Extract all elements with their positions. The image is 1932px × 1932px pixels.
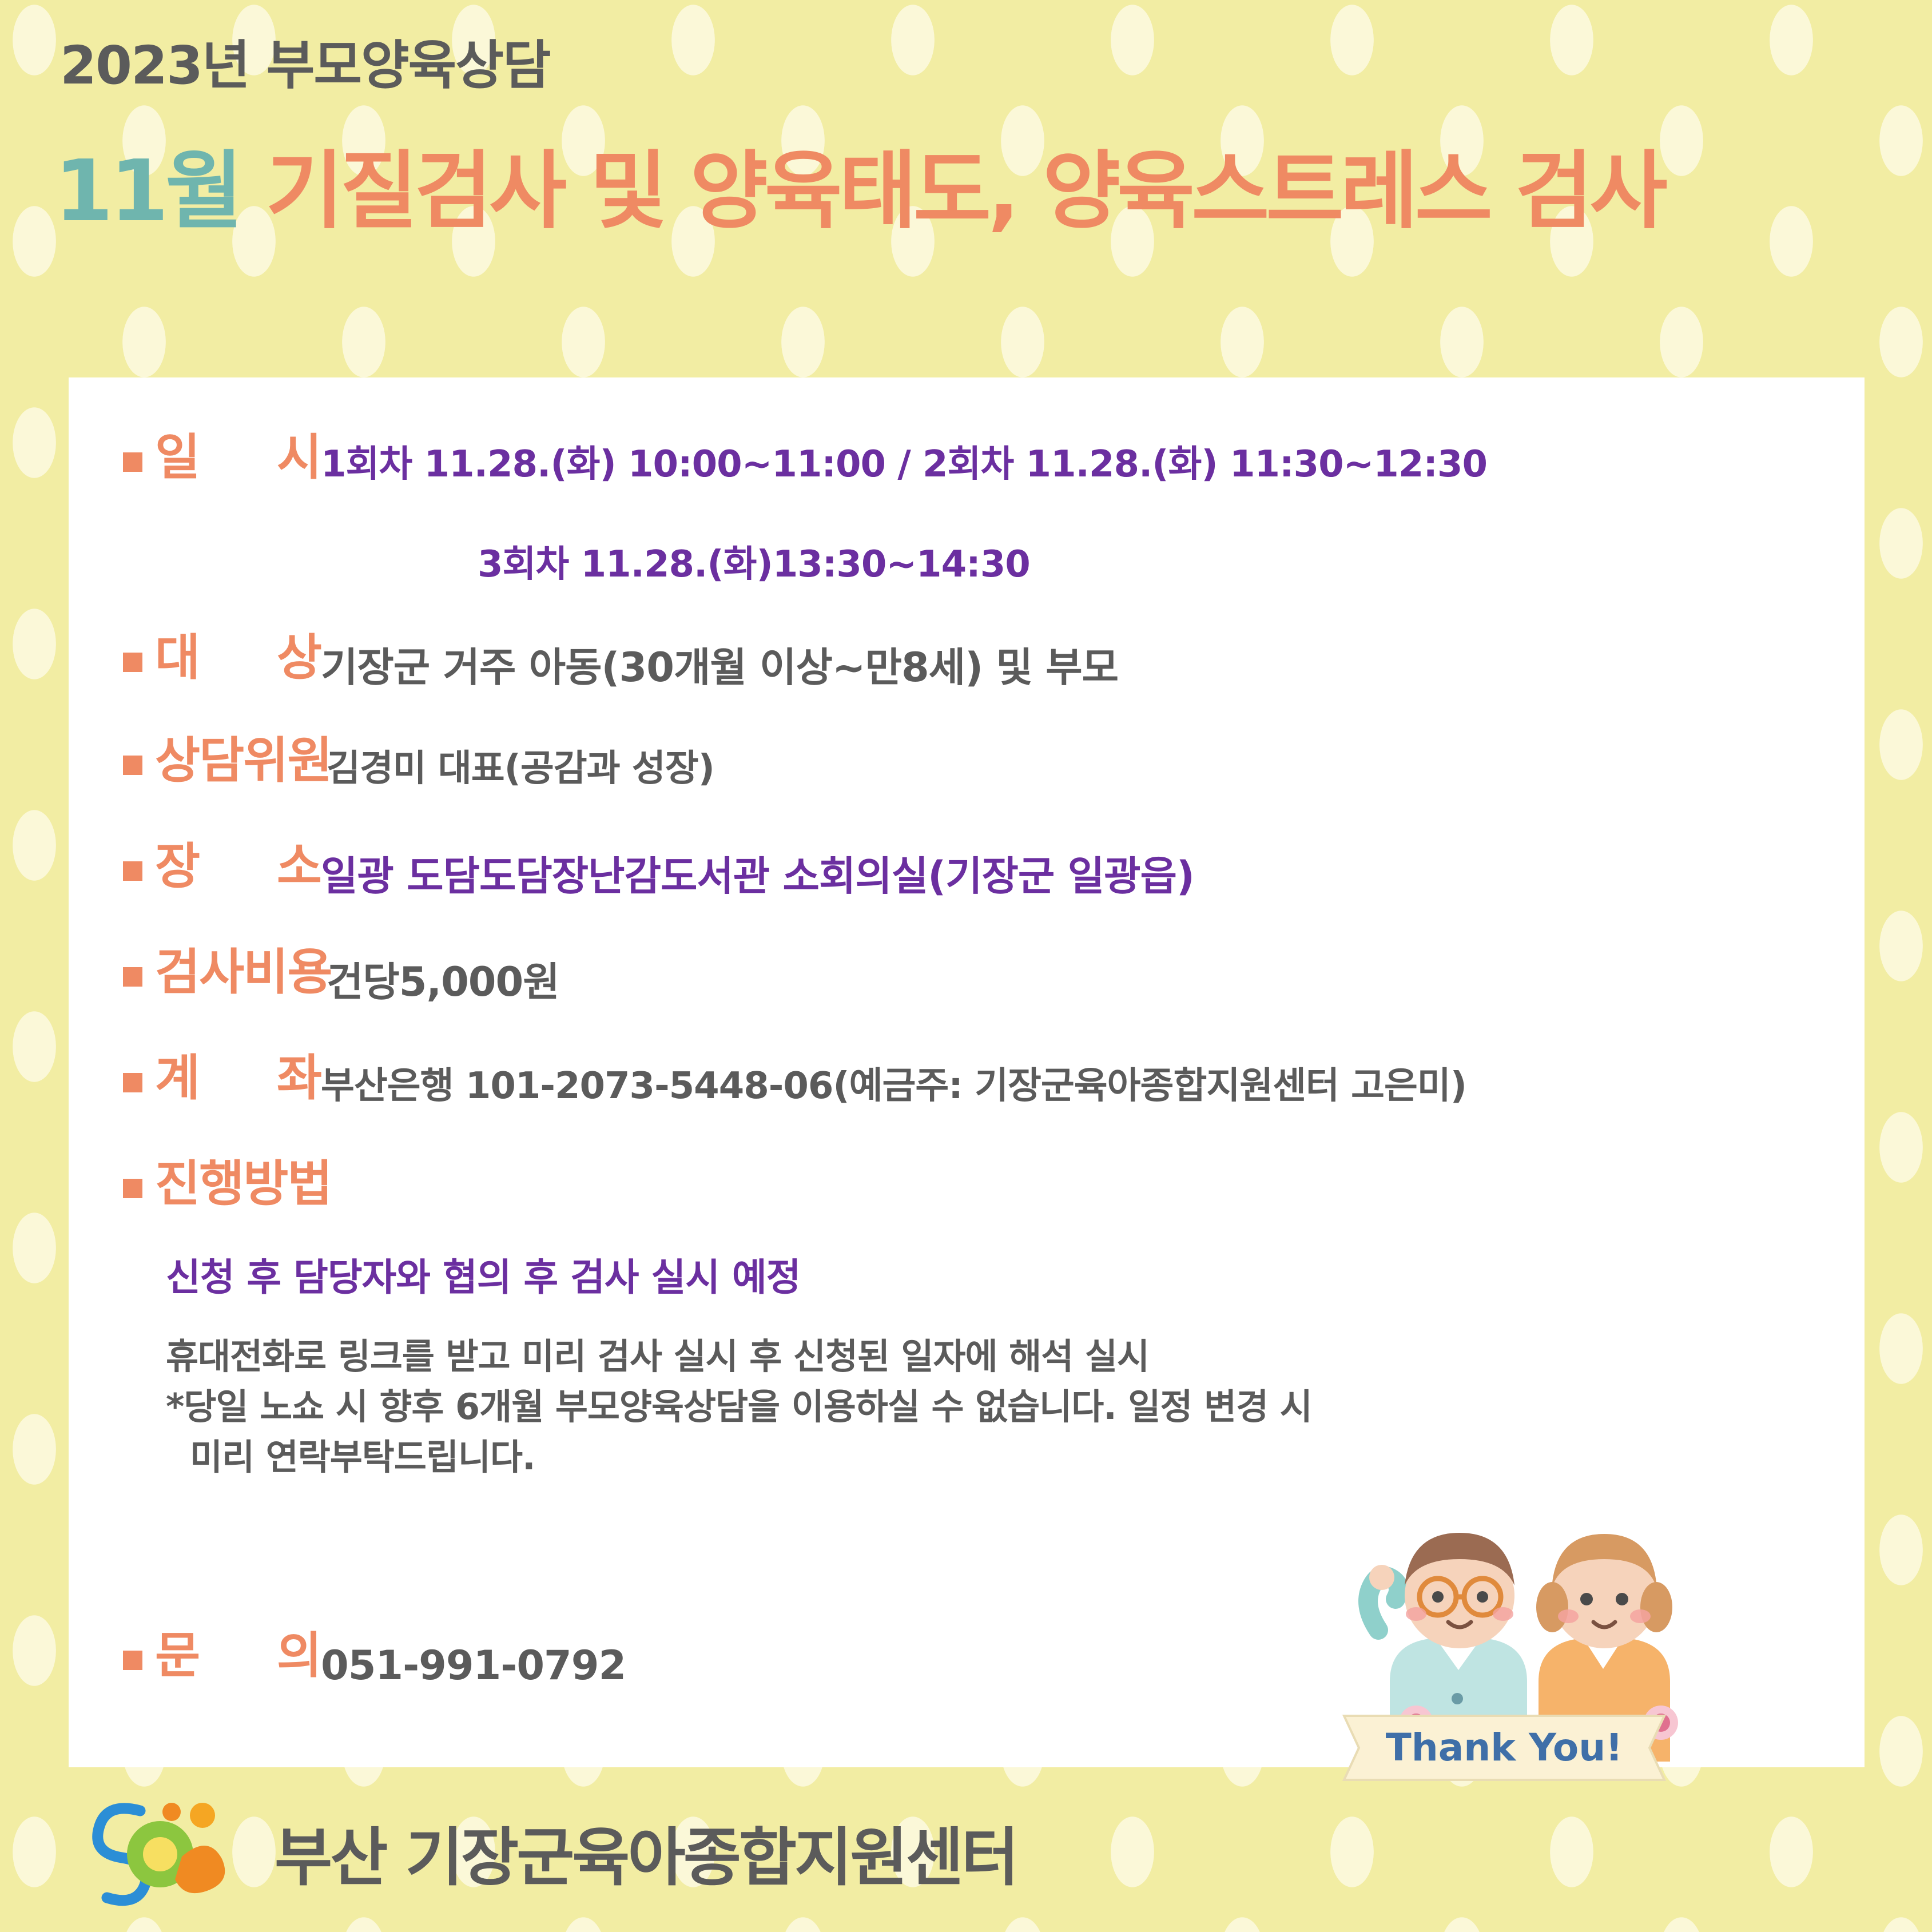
method-highlight: 신청 후 담당자와 협의 후 검사 실시 예정	[166, 1247, 1312, 1302]
value-account: 부산은행 101-2073-5448-06(예금주: 기장군육아종합지원센터 고…	[321, 1052, 1466, 1107]
label-counselor: 상담위원	[155, 735, 327, 786]
label-datetime-a: 일	[155, 432, 199, 483]
row-place: 장 소 일광 도담도담장난감도서관 소회의실(기장군 일광읍)	[123, 841, 1194, 900]
label-target-a: 대	[155, 632, 199, 683]
title-month: 11월	[54, 142, 240, 240]
value-fee: 건당5,000원	[327, 947, 559, 1005]
bullet-square-icon	[123, 1651, 142, 1670]
label-inquiry-b: 의	[277, 1630, 321, 1681]
label-account: 계 좌	[155, 1052, 321, 1104]
row-inquiry: 문 의 051-991-0792	[123, 1630, 626, 1689]
row-datetime: 일 시 1회차 11.28.(화) 10:00~11:00 / 2회차 11.2…	[123, 432, 1487, 486]
poster-background: 2023년 부모양육상담 11월 기질검사 및 양육태도, 양육스트레스 검사 …	[0, 0, 1932, 1932]
row-counselor: 상담위원 김경미 대표(공감과 성장)	[123, 735, 714, 790]
label-account-b: 좌	[277, 1052, 321, 1104]
row-fee: 검사비용 건당5,000원	[123, 947, 559, 1005]
label-place-b: 소	[277, 841, 321, 892]
label-target: 대 상	[155, 632, 321, 683]
method-body: 신청 후 담당자와 협의 후 검사 실시 예정 휴대전화로 링크를 받고 미리 …	[166, 1247, 1312, 1482]
bullet-square-icon	[123, 756, 142, 775]
label-place-a: 장	[155, 841, 199, 892]
value-target: 기장군 거주 아동(30개월 이상~만8세) 및 부모	[321, 632, 1118, 691]
value-datetime-line1: 1회차 11.28.(화) 10:00~11:00 / 2회차 11.28.(화…	[321, 432, 1487, 486]
title-rest: 기질검사 및 양육태도, 양육스트레스 검사	[266, 142, 1664, 240]
bullet-square-icon	[123, 861, 142, 881]
bullet-square-icon	[123, 653, 142, 672]
label-method: 진행방법	[155, 1158, 331, 1210]
label-target-b: 상	[277, 632, 321, 683]
label-inquiry: 문 의	[155, 1630, 321, 1681]
bullet-square-icon	[123, 1073, 142, 1092]
page-title: 11월 기질검사 및 양육태도, 양육스트레스 검사	[54, 149, 1664, 233]
value-place: 일광 도담도담장난감도서관 소회의실(기장군 일광읍)	[321, 841, 1194, 900]
ribbon-label: Thank You!	[1386, 1726, 1623, 1770]
method-note-1: 휴대전화로 링크를 받고 미리 검사 실시 후 신청된 일자에 해석 실시	[166, 1331, 1312, 1382]
mascot-illustration: Thank You!	[1310, 1510, 1767, 1784]
label-datetime-b: 시	[277, 432, 321, 483]
thank-you-ribbon: Thank You!	[1344, 1716, 1664, 1780]
label-datetime: 일 시	[155, 432, 321, 483]
value-inquiry-phone: 051-991-0792	[321, 1630, 626, 1689]
value-counselor: 김경미 대표(공감과 성장)	[327, 735, 714, 790]
bullet-square-icon	[123, 967, 142, 987]
poster-subtitle: 2023년 부모양육상담	[60, 23, 550, 99]
row-method: 진행방법	[123, 1158, 331, 1210]
label-fee: 검사비용	[155, 947, 327, 998]
method-note-2: *당일 노쇼 시 향후 6개월 부모양육상담을 이용하실 수 없습니다. 일정 …	[166, 1382, 1312, 1432]
org-name: 부산 기장군육아종합지원센터	[275, 1806, 1017, 1898]
method-note-3: 미리 연락부탁드립니다.	[166, 1432, 1312, 1482]
row-target: 대 상 기장군 거주 아동(30개월 이상~만8세) 및 부모	[123, 632, 1118, 691]
label-inquiry-a: 문	[155, 1630, 199, 1681]
footer: 부산 기장군육아종합지원센터	[86, 1795, 1017, 1909]
bullet-square-icon	[123, 1179, 142, 1198]
row-account: 계 좌 부산은행 101-2073-5448-06(예금주: 기장군육아종합지원…	[123, 1052, 1466, 1107]
value-datetime-line2: 3회차 11.28.(화)13:30~14:30	[478, 535, 1030, 587]
label-place: 장 소	[155, 841, 321, 892]
center-logo-icon	[86, 1795, 252, 1909]
label-account-a: 계	[155, 1052, 199, 1104]
bullet-square-icon	[123, 452, 142, 472]
